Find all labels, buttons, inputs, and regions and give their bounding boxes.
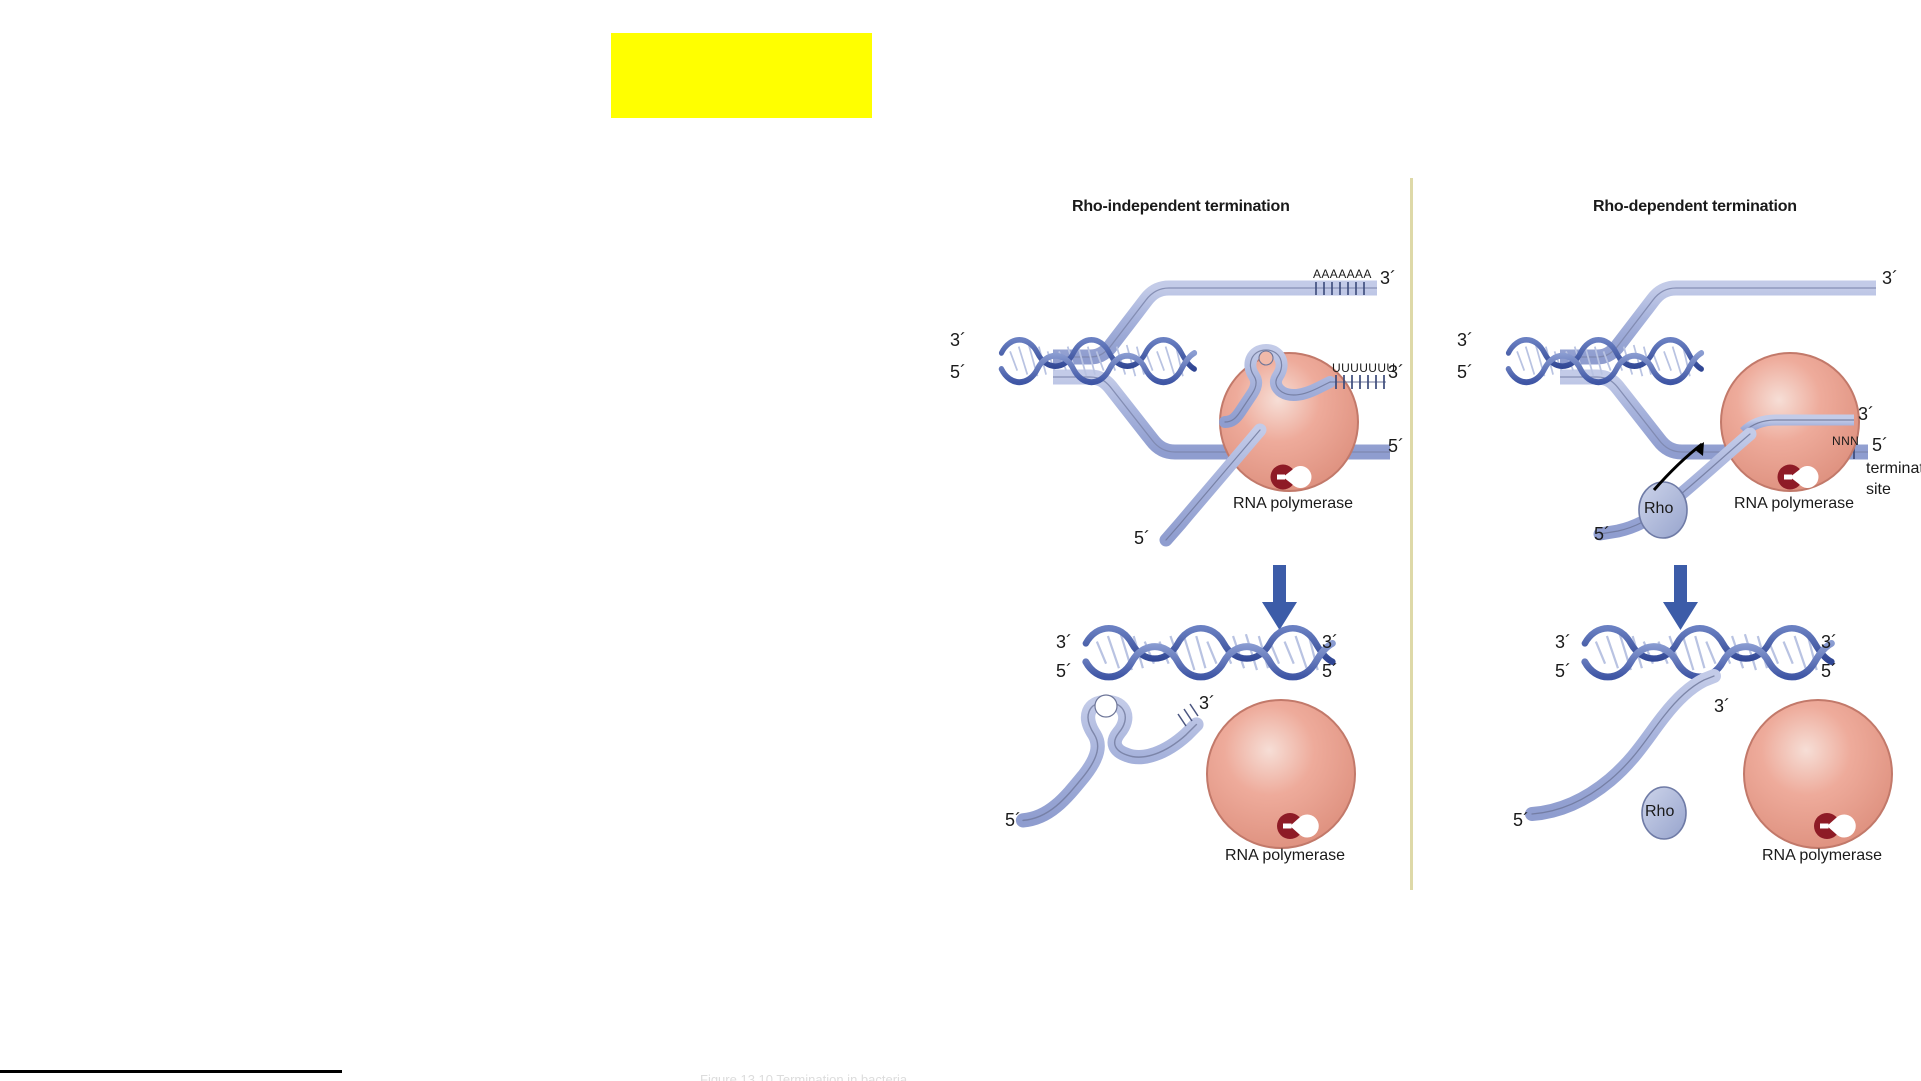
product-dna-right-3prime-label: 3´ — [1322, 632, 1338, 652]
product-dna-right-3prime-label-right: 3´ — [1821, 632, 1837, 652]
template-bottom-5prime-label-right: 5´ — [1457, 362, 1473, 382]
released-rna-5prime-label-left: 5´ — [1005, 810, 1021, 830]
right-top-stage — [1508, 288, 1876, 630]
released-rna-3prime-label-right: 3´ — [1714, 696, 1730, 716]
bottom-divider-rule — [0, 1070, 342, 1073]
template-5prime-label-left: 5´ — [1388, 436, 1404, 456]
slide-canvas: Rho-independent termination AAAAAAA 3´ 3… — [0, 0, 1921, 1081]
nontemplate-3prime-label: 3´ — [1380, 268, 1396, 288]
product-dna-right-5prime-label: 5´ — [1322, 661, 1338, 681]
rho-label-bottom: Rho — [1645, 803, 1674, 821]
polymerase-logo-icon-right — [1778, 465, 1819, 490]
rna-3prime-label-right: 3´ — [1858, 404, 1874, 424]
nontemplate-dna-strand-right — [1560, 288, 1876, 357]
released-rna-3prime-label-left: 3´ — [1199, 693, 1215, 713]
termination-diagram: Rho-independent termination AAAAAAA 3´ 3… — [0, 0, 1921, 1081]
right-bottom-stage — [1532, 628, 1892, 848]
left-panel-title: Rho-independent termination — [1072, 198, 1290, 216]
template-top-3prime-label: 3´ — [950, 330, 966, 350]
product-dna-left-5prime-label-right: 5´ — [1555, 661, 1571, 681]
right-reaction-arrow — [1663, 565, 1698, 630]
released-hairpin-loop — [1095, 695, 1117, 717]
bottom-caption: Figure 13.10 Termination in bacteria — [700, 1072, 1000, 1081]
right-panel-title: Rho-dependent termination — [1593, 198, 1797, 216]
rna-5prime-label-left: 5´ — [1134, 528, 1150, 548]
enzyme-label-left-top: RNA polymerase — [1233, 495, 1353, 513]
product-dna-left-5prime-label: 5´ — [1056, 661, 1072, 681]
template-top-3prime-label-right: 3´ — [1457, 330, 1473, 350]
left-top-stage — [1001, 282, 1390, 630]
left-bottom-stage — [1023, 628, 1355, 848]
enzyme-label-left-bottom: RNA polymerase — [1225, 847, 1345, 865]
rna-5prime-label-right: 5´ — [1594, 524, 1610, 544]
poly-u-ticks — [1336, 375, 1384, 389]
template-5prime-label-right: 5´ — [1872, 435, 1888, 455]
product-dna-left-3prime-label: 3´ — [1056, 632, 1072, 652]
released-rna-strand-right — [1532, 676, 1714, 814]
termination-site-label-line1: termination — [1866, 460, 1921, 478]
nnn-sequence-label: NNN — [1832, 435, 1859, 448]
left-reaction-arrow — [1262, 565, 1297, 630]
template-bottom-5prime-label: 5´ — [950, 362, 966, 382]
released-polymerase-logo-icon-right — [1814, 813, 1856, 839]
product-dna-right-5prime-label-right: 5´ — [1821, 661, 1837, 681]
released-rna-5prime-label-right: 5´ — [1513, 810, 1529, 830]
poly-u-sequence-label: UUUUUUU — [1332, 362, 1395, 375]
diagram-graphics — [0, 0, 1921, 1081]
enzyme-label-right-bottom: RNA polymerase — [1762, 847, 1882, 865]
nontemplate-dna-strand — [1053, 288, 1377, 357]
released-polymerase-logo-icon — [1277, 813, 1319, 839]
rho-label-top: Rho — [1644, 500, 1673, 518]
panel-divider — [1410, 178, 1413, 890]
rna-3prime-label-left: 3´ — [1388, 362, 1404, 382]
polymerase-logo-icon — [1271, 465, 1312, 490]
termination-site-label-line2: site — [1866, 481, 1891, 499]
poly-a-sequence-label: AAAAAAA — [1313, 268, 1372, 281]
enzyme-label-right-top: RNA polymerase — [1734, 495, 1854, 513]
nontemplate-3prime-label-right: 3´ — [1882, 268, 1898, 288]
product-dna-left-3prime-label-right: 3´ — [1555, 632, 1571, 652]
